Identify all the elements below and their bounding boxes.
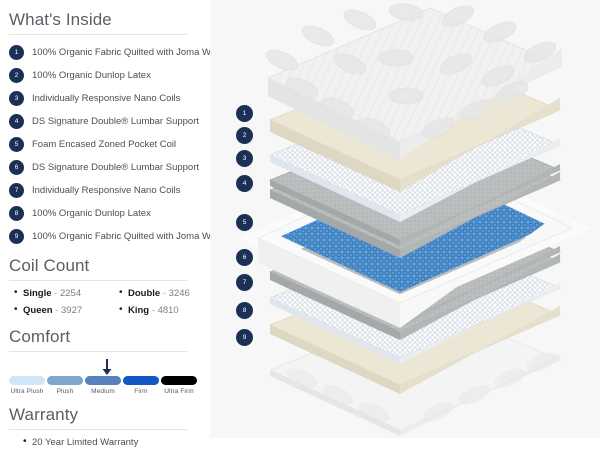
product-spec-page: What's Inside 1 100% Organic Fabric Quil… <box>0 0 600 438</box>
list-item: 2 100% Organic Dunlop Latex <box>9 64 200 87</box>
list-item: 8 100% Organic Dunlop Latex <box>9 202 200 225</box>
coil-count-value: 2254 <box>60 288 81 299</box>
list-item: 7 Individually Responsive Nano Coils <box>9 179 200 202</box>
coil-size-label: King <box>128 305 149 316</box>
coil-count-heading: Coil Count <box>9 255 200 276</box>
layer-label: 100% Organic Dunlop Latex <box>32 208 151 220</box>
layer-number-badge: 2 <box>9 68 24 83</box>
heading-divider <box>9 34 187 35</box>
coil-separator: - <box>54 288 57 299</box>
list-item: 6 DS Signature Double® Lumbar Support <box>9 156 200 179</box>
comfort-scale: Ultra Plush Plush Medium Firm Ultra Firm <box>9 358 199 395</box>
coil-count-entry: Single - 2254 <box>23 287 128 300</box>
comfort-swatch-plush[interactable] <box>47 376 83 385</box>
exploded-mattress-illustration <box>210 0 600 438</box>
coil-size-label: Queen <box>23 305 53 316</box>
layer-number-badge: 9 <box>9 229 24 244</box>
diagram-badge-5[interactable]: 5 <box>236 214 253 231</box>
comfort-swatch-ultra-plush[interactable] <box>9 376 45 385</box>
coil-count-entry: King - 4810 <box>128 304 200 317</box>
heading-divider <box>9 351 187 352</box>
coil-count-value: 3927 <box>61 305 82 316</box>
layer-label: 100% Organic Fabric Quilted with Joma Wo… <box>32 47 224 59</box>
layer-label: DS Signature Double® Lumbar Support <box>32 162 199 174</box>
layer-number-badge: 5 <box>9 137 24 152</box>
comfort-swatch-medium[interactable] <box>85 376 121 385</box>
comfort-label-row: Ultra Plush Plush Medium Firm Ultra Firm <box>9 388 199 395</box>
coil-count-entry: Double - 3246 <box>128 287 200 300</box>
comfort-label: Plush <box>47 388 83 395</box>
diagram-badge-1[interactable]: 1 <box>236 105 253 122</box>
layer-number-badge: 3 <box>9 91 24 106</box>
comfort-heading: Comfort <box>9 326 200 347</box>
diagram-badge-3[interactable]: 3 <box>236 150 253 167</box>
list-item: 4 DS Signature Double® Lumbar Support <box>9 110 200 133</box>
comfort-indicator-row <box>9 358 199 376</box>
list-item: 3 Individually Responsive Nano Coils <box>9 87 200 110</box>
coil-count-section: Coil Count Single - 2254 Double - 3246 Q… <box>9 255 200 317</box>
diagram-badge-2[interactable]: 2 <box>236 127 253 144</box>
warranty-heading: Warranty <box>9 404 200 425</box>
comfort-label: Ultra Plush <box>9 388 45 395</box>
coil-count-value: 4810 <box>158 305 179 316</box>
coil-count-entry: Queen - 3927 <box>23 304 128 317</box>
diagram-badge-9[interactable]: 9 <box>236 329 253 346</box>
layer-number-badge: 8 <box>9 206 24 221</box>
comfort-swatch-row <box>9 376 199 385</box>
list-item: 1 100% Organic Fabric Quilted with Joma … <box>9 41 200 64</box>
comfort-label: Ultra Firm <box>161 388 197 395</box>
layer-label: 100% Organic Dunlop Latex <box>32 70 151 82</box>
heading-divider <box>9 429 187 430</box>
coil-separator: - <box>163 288 166 299</box>
diagram-badge-6[interactable]: 6 <box>236 249 253 266</box>
diagram-badge-8[interactable]: 8 <box>236 302 253 319</box>
list-item: 5 Foam Encased Zoned Pocket Coil <box>9 133 200 156</box>
diagram-callout-badges: 1 2 3 4 5 6 7 8 9 <box>236 0 256 438</box>
specs-panel: What's Inside 1 100% Organic Fabric Quil… <box>0 0 210 438</box>
coil-size-label: Double <box>128 288 160 299</box>
layer-label: Foam Encased Zoned Pocket Coil <box>32 139 176 151</box>
comfort-section: Comfort Ultra Plush Plush <box>9 326 200 395</box>
layer-label: DS Signature Double® Lumbar Support <box>32 116 199 128</box>
layer-label: Individually Responsive Nano Coils <box>32 93 180 105</box>
down-arrow-icon <box>101 359 113 375</box>
coil-separator: - <box>152 305 155 316</box>
coil-size-label: Single <box>23 288 52 299</box>
layer-label: 100% Organic Fabric Quilted with Joma Wo… <box>32 231 224 243</box>
heading-divider <box>9 280 187 281</box>
whats-inside-heading: What's Inside <box>9 9 200 30</box>
diagram-badge-4[interactable]: 4 <box>236 175 253 192</box>
layer-label: Individually Responsive Nano Coils <box>32 185 180 197</box>
coil-count-grid: Single - 2254 Double - 3246 Queen - 3927… <box>9 287 200 317</box>
coil-separator: - <box>55 305 58 316</box>
coil-count-value: 3246 <box>169 288 190 299</box>
whats-inside-list: 1 100% Organic Fabric Quilted with Joma … <box>9 41 200 248</box>
comfort-swatch-firm[interactable] <box>123 376 159 385</box>
layer-number-badge: 4 <box>9 114 24 129</box>
layer-number-badge: 1 <box>9 45 24 60</box>
comfort-swatch-ultra-firm[interactable] <box>161 376 197 385</box>
list-item: 9 100% Organic Fabric Quilted with Joma … <box>9 225 200 248</box>
layer-number-badge: 7 <box>9 183 24 198</box>
warranty-section: Warranty 20 Year Limited Warranty <box>9 404 200 449</box>
comfort-label: Firm <box>123 388 159 395</box>
mattress-diagram-panel: 1 2 3 4 5 6 7 8 9 <box>210 0 600 438</box>
comfort-label: Medium <box>85 388 121 395</box>
layer-number-badge: 6 <box>9 160 24 175</box>
diagram-badge-7[interactable]: 7 <box>236 274 253 291</box>
